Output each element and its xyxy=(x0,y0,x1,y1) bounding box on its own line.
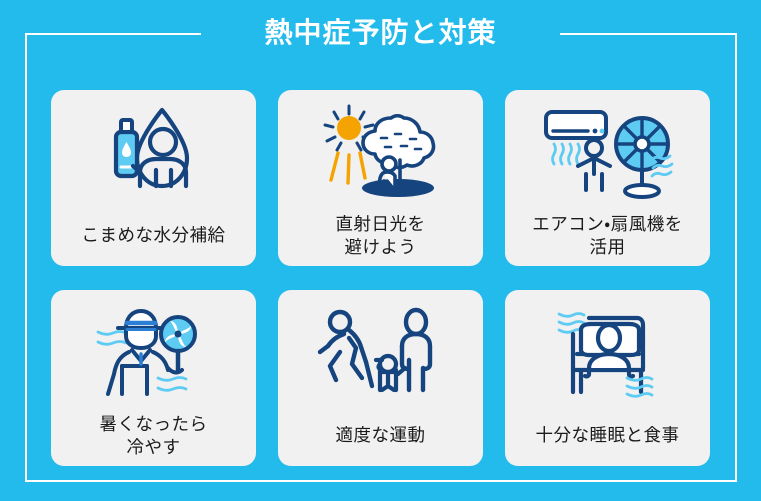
card-label: こまめな水分補給 xyxy=(76,206,232,266)
running-person-dog-walk-icon xyxy=(316,302,446,402)
prevention-card-grid: こまめな水分補給 xyxy=(51,90,711,466)
card-label: 暑くなったら 冷やす xyxy=(94,406,214,466)
card-sleep-and-meals[interactable]: 十分な睡眠と食事 xyxy=(505,290,710,466)
card-moderate-exercise[interactable]: 適度な運動 xyxy=(278,290,483,466)
person-sleeping-bed-icon xyxy=(553,302,663,402)
card-label: 直射日光を 避けよう xyxy=(330,206,432,266)
frame-bottom-edge xyxy=(25,480,737,482)
card-label: エアコン・扇風機を 活用 xyxy=(526,206,688,266)
heatstroke-prevention-poster: 熱中症予防と対策 xyxy=(0,0,761,501)
card-cool-down[interactable]: 暑くなったら 冷やす xyxy=(51,290,256,466)
card-label: 十分な睡眠と食事 xyxy=(530,406,686,466)
person-handheld-fan-icon xyxy=(94,302,214,402)
aircon-electric-fan-icon xyxy=(538,102,678,202)
card-hydration[interactable]: こまめな水分補給 xyxy=(51,90,256,266)
frame-left-edge xyxy=(25,33,27,482)
card-use-aircon-fan[interactable]: エアコン・扇風機を 活用 xyxy=(505,90,710,266)
card-label: 適度な運動 xyxy=(330,406,432,466)
page-title: 熱中症予防と対策 xyxy=(0,19,761,47)
frame-right-edge xyxy=(735,33,737,482)
card-avoid-sunlight[interactable]: 直射日光を 避けよう xyxy=(278,90,483,266)
water-bottle-person-drop-icon xyxy=(99,102,209,202)
sun-tree-shade-icon xyxy=(321,102,441,202)
